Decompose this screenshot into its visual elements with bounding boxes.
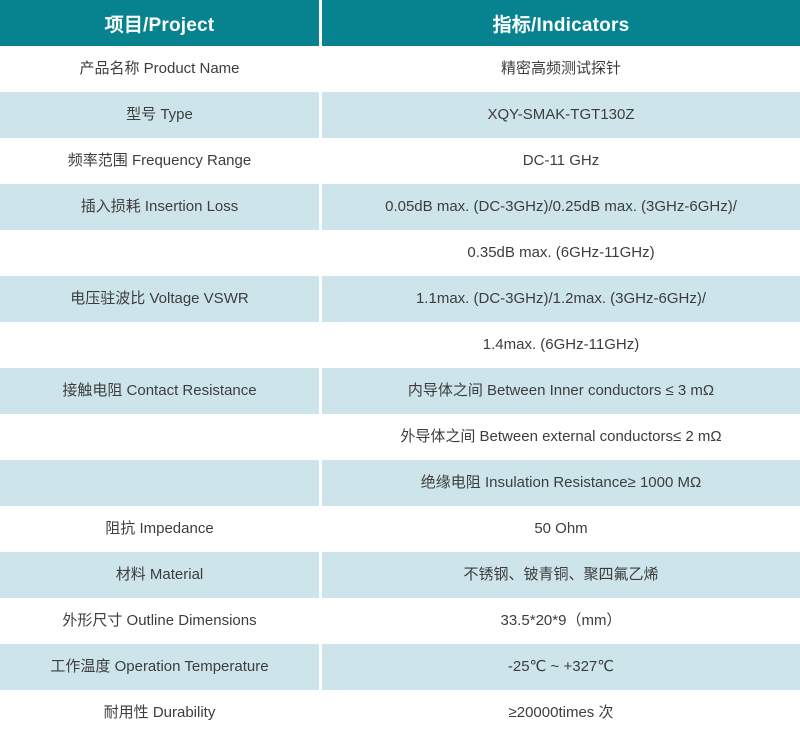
- cell-indicator: 精密高频测试探针: [322, 46, 800, 92]
- cell-indicator-value: 精密高频测试探针: [330, 59, 792, 79]
- column-header-project: 项目/Project: [0, 0, 319, 46]
- table-row: 绝缘电阻 Insulation Resistance≥ 1000 MΩ: [0, 460, 800, 506]
- cell-indicator-value: XQY-SMAK-TGT130Z: [330, 105, 792, 125]
- cell-indicator-value: 1.4max. (6GHz-11GHz): [330, 335, 792, 355]
- cell-indicator-value: 0.35dB max. (6GHz-11GHz): [330, 243, 792, 263]
- cell-project-label: 产品名称 Product Name: [8, 59, 311, 79]
- cell-indicator: 绝缘电阻 Insulation Resistance≥ 1000 MΩ: [322, 460, 800, 506]
- cell-project: [0, 230, 319, 276]
- table-row: 产品名称 Product Name精密高频测试探针: [0, 46, 800, 92]
- cell-indicator-value: DC-11 GHz: [330, 151, 792, 171]
- cell-indicator-value: 50 Ohm: [330, 519, 792, 539]
- cell-project-label: 耐用性 Durability: [8, 703, 311, 723]
- cell-indicator: 1.1max. (DC-3GHz)/1.2max. (3GHz-6GHz)/: [322, 276, 800, 322]
- cell-project-label: 插入损耗 Insertion Loss: [8, 197, 311, 217]
- cell-indicator-value: 内导体之间 Between Inner conductors ≤ 3 mΩ: [330, 381, 792, 401]
- cell-indicator-value: 0.05dB max. (DC-3GHz)/0.25dB max. (3GHz-…: [330, 197, 792, 217]
- cell-project-label: 频率范围 Frequency Range: [8, 151, 311, 171]
- cell-project: 电压驻波比 Voltage VSWR: [0, 276, 319, 322]
- table-row: 插入损耗 Insertion Loss0.05dB max. (DC-3GHz)…: [0, 184, 800, 230]
- table-header: 项目/Project 指标/Indicators: [0, 0, 800, 46]
- cell-project-label: 接触电阻 Contact Resistance: [8, 381, 311, 401]
- cell-indicator-value: 1.1max. (DC-3GHz)/1.2max. (3GHz-6GHz)/: [330, 289, 792, 309]
- cell-indicator-value: 外导体之间 Between external conductors≤ 2 mΩ: [330, 427, 792, 447]
- table-row: 外形尺寸 Outline Dimensions33.5*20*9（mm）: [0, 598, 800, 644]
- table-body: 产品名称 Product Name精密高频测试探针型号 TypeXQY-SMAK…: [0, 46, 800, 736]
- table-row: 接触电阻 Contact Resistance内导体之间 Between Inn…: [0, 368, 800, 414]
- table-row: 1.4max. (6GHz-11GHz): [0, 322, 800, 368]
- cell-indicator: DC-11 GHz: [322, 138, 800, 184]
- cell-project: 插入损耗 Insertion Loss: [0, 184, 319, 230]
- table-row: 工作温度 Operation Temperature-25℃ ~ +327℃: [0, 644, 800, 690]
- cell-indicator-value: 不锈钢、铍青铜、聚四氟乙烯: [330, 565, 792, 585]
- cell-indicator-value: 33.5*20*9（mm）: [330, 611, 792, 631]
- cell-project: 频率范围 Frequency Range: [0, 138, 319, 184]
- cell-project: 材料 Material: [0, 552, 319, 598]
- cell-project-label: 工作温度 Operation Temperature: [8, 657, 311, 677]
- cell-indicator: 不锈钢、铍青铜、聚四氟乙烯: [322, 552, 800, 598]
- cell-indicator: ≥20000times 次: [322, 690, 800, 736]
- cell-project: [0, 322, 319, 368]
- table-row: 频率范围 Frequency RangeDC-11 GHz: [0, 138, 800, 184]
- specification-table: 项目/Project 指标/Indicators 产品名称 Product Na…: [0, 0, 800, 736]
- cell-project: 工作温度 Operation Temperature: [0, 644, 319, 690]
- cell-project: [0, 460, 319, 506]
- cell-indicator-value: ≥20000times 次: [330, 703, 792, 723]
- table-row: 耐用性 Durability≥20000times 次: [0, 690, 800, 736]
- cell-indicator: 50 Ohm: [322, 506, 800, 552]
- cell-project-label: 外形尺寸 Outline Dimensions: [8, 611, 311, 631]
- table-row: 外导体之间 Between external conductors≤ 2 mΩ: [0, 414, 800, 460]
- cell-indicator: 内导体之间 Between Inner conductors ≤ 3 mΩ: [322, 368, 800, 414]
- header-row: 项目/Project 指标/Indicators: [0, 0, 800, 46]
- cell-indicator: 33.5*20*9（mm）: [322, 598, 800, 644]
- column-header-indicators: 指标/Indicators: [322, 0, 800, 46]
- table-row: 0.35dB max. (6GHz-11GHz): [0, 230, 800, 276]
- cell-project-label: 型号 Type: [8, 105, 311, 125]
- cell-indicator: -25℃ ~ +327℃: [322, 644, 800, 690]
- cell-project-label: 阻抗 Impedance: [8, 519, 311, 539]
- cell-indicator: 0.05dB max. (DC-3GHz)/0.25dB max. (3GHz-…: [322, 184, 800, 230]
- table-row: 材料 Material不锈钢、铍青铜、聚四氟乙烯: [0, 552, 800, 598]
- table-row: 电压驻波比 Voltage VSWR1.1max. (DC-3GHz)/1.2m…: [0, 276, 800, 322]
- cell-project: 外形尺寸 Outline Dimensions: [0, 598, 319, 644]
- table-row: 型号 TypeXQY-SMAK-TGT130Z: [0, 92, 800, 138]
- table-row: 阻抗 Impedance50 Ohm: [0, 506, 800, 552]
- cell-project-label: 材料 Material: [8, 565, 311, 585]
- cell-indicator-value: 绝缘电阻 Insulation Resistance≥ 1000 MΩ: [330, 473, 792, 493]
- cell-project: 产品名称 Product Name: [0, 46, 319, 92]
- cell-indicator-value: -25℃ ~ +327℃: [330, 657, 792, 677]
- cell-indicator: XQY-SMAK-TGT130Z: [322, 92, 800, 138]
- cell-project: 接触电阻 Contact Resistance: [0, 368, 319, 414]
- cell-indicator: 1.4max. (6GHz-11GHz): [322, 322, 800, 368]
- cell-indicator: 0.35dB max. (6GHz-11GHz): [322, 230, 800, 276]
- cell-project: 耐用性 Durability: [0, 690, 319, 736]
- cell-project: 型号 Type: [0, 92, 319, 138]
- cell-indicator: 外导体之间 Between external conductors≤ 2 mΩ: [322, 414, 800, 460]
- cell-project-label: 电压驻波比 Voltage VSWR: [8, 289, 311, 309]
- cell-project: [0, 414, 319, 460]
- cell-project: 阻抗 Impedance: [0, 506, 319, 552]
